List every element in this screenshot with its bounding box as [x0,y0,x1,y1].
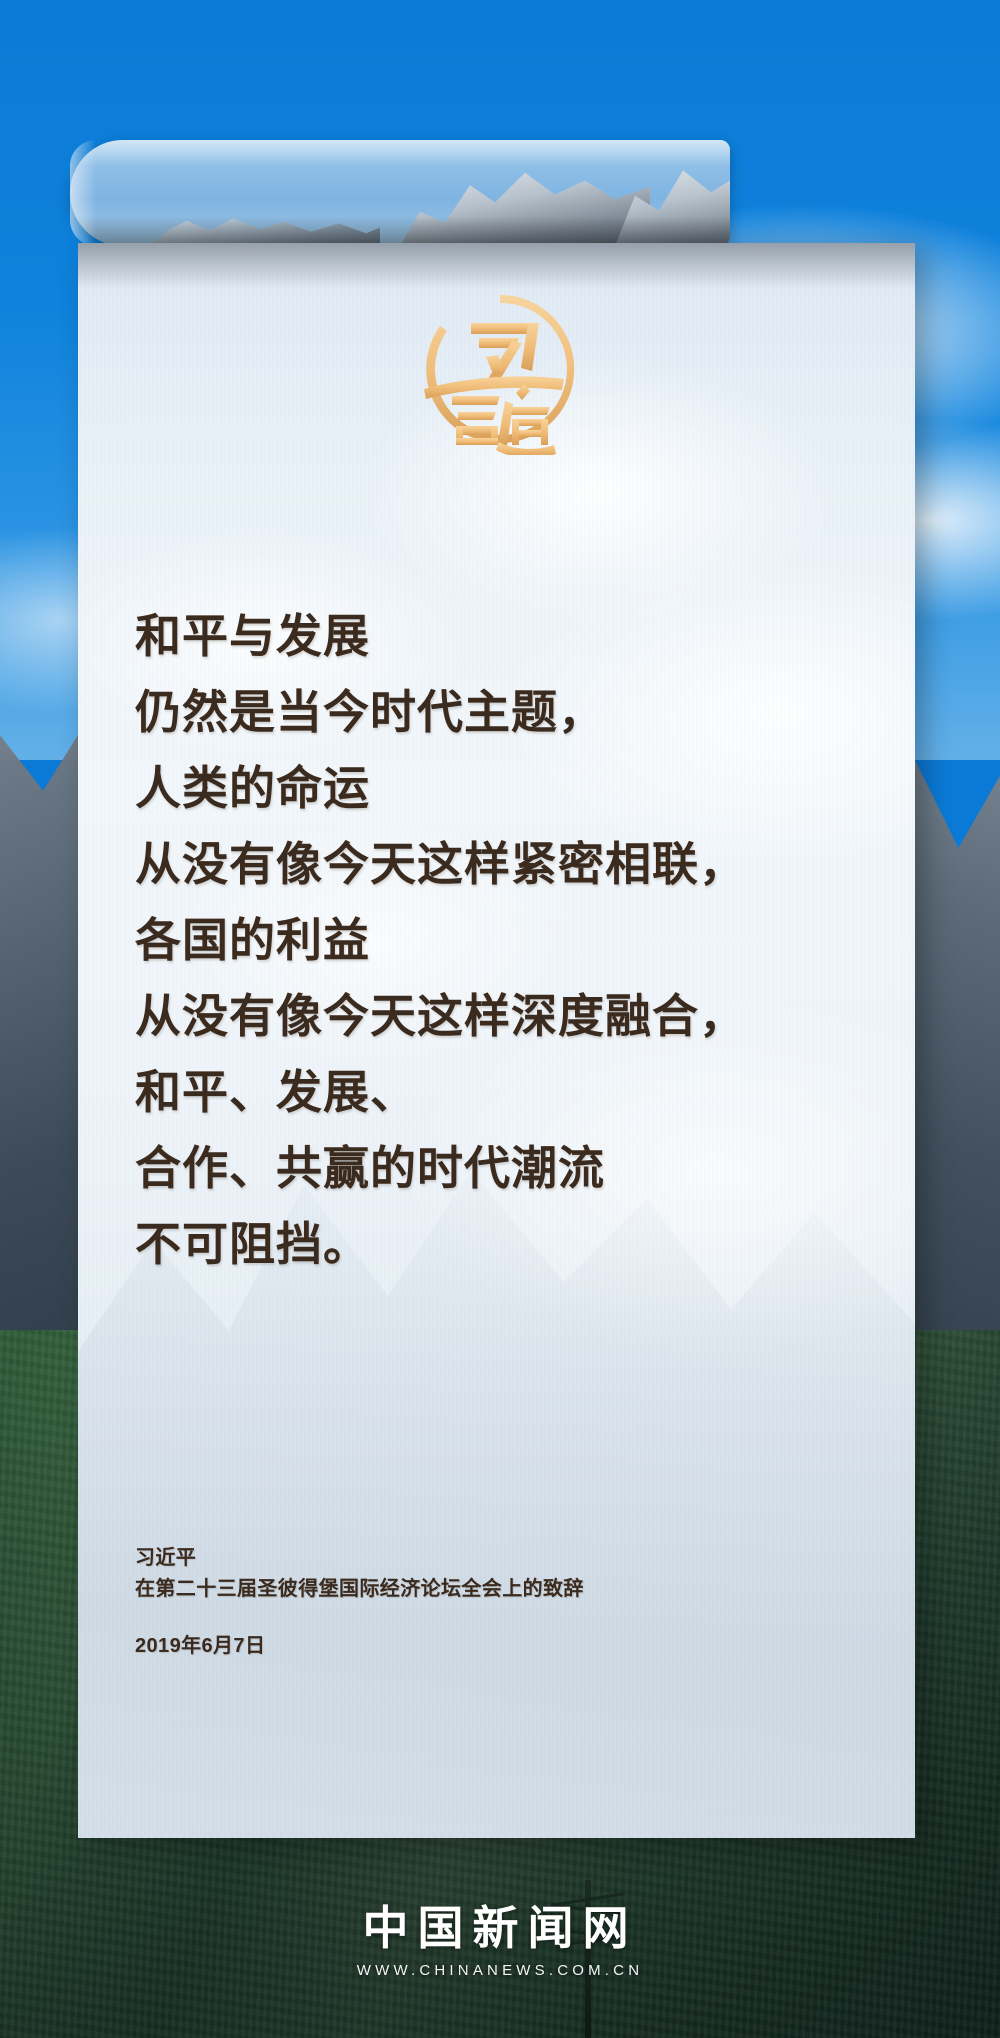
quote-line-2: 仍然是当今时代主题， [135,674,815,750]
quote-line-5: 各国的利益 [135,902,815,978]
quote-line-6: 从没有像今天这样深度融合， [135,978,815,1054]
quote-line-7: 和平、发展、 [135,1054,815,1130]
quote-block: 和平与发展 仍然是当今时代主题， 人类的命运 从没有像今天这样紧密相联， 各国的… [135,598,815,1282]
poster-canvas: 和平与发展 仍然是当今时代主题， 人类的命运 从没有像今天这样紧密相联， 各国的… [0,0,1000,2038]
quote-line-9: 不可阻挡。 [135,1206,815,1282]
attribution-spacer [135,1605,815,1631]
roll-shadow [70,216,730,246]
footer-brand: 中国新闻网 WWW.CHINANEWS.COM.CN [0,1902,1000,1979]
quote-line-8: 合作、共赢的时代潮流 [135,1130,815,1206]
attribution-occasion: 在第二十三届圣彼得堡国际经济论坛全会上的致辞 [135,1574,815,1605]
xi-yan-dao-seal-icon [408,283,593,455]
chinanews-logo-text: 中国新闻网 [0,1902,1000,1956]
roll-highlight [70,140,730,166]
attribution-speaker: 习近平 [135,1543,815,1574]
quote-line-4: 从没有像今天这样紧密相联， [135,826,815,902]
quote-line-3: 人类的命运 [135,750,815,826]
attribution-block: 习近平 在第二十三届圣彼得堡国际经济论坛全会上的致辞 2019年6月7日 [135,1543,815,1662]
scroll-roll [70,140,730,246]
attribution-date: 2019年6月7日 [135,1631,815,1662]
chinanews-url: WWW.CHINANEWS.COM.CN [0,1962,1000,1979]
quote-line-1: 和平与发展 [135,598,815,674]
